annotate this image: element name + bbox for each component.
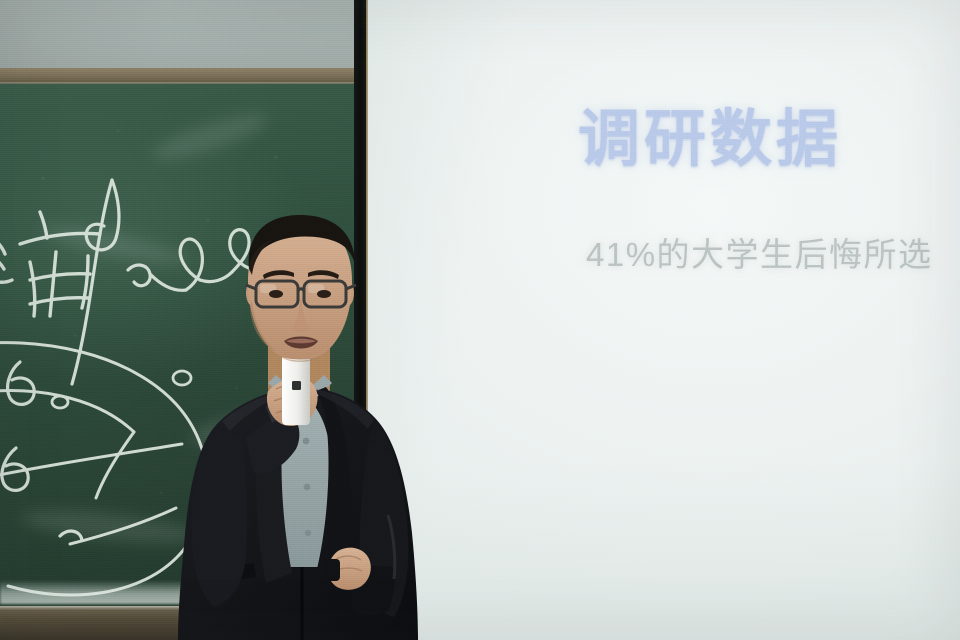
head <box>246 215 356 362</box>
microphone-switch <box>292 381 301 390</box>
presentation-clicker <box>322 559 340 581</box>
slide-title: 调研数据 <box>578 88 842 178</box>
wall-shading <box>0 0 368 72</box>
lecture-photo: 调研数据 41%的大学生后悔所选 <box>0 0 960 640</box>
slide-subtitle: 41%的大学生后悔所选 <box>586 228 933 276</box>
blackboard-top-frame <box>0 68 358 85</box>
presenter <box>150 215 480 640</box>
chalk-lower-loops <box>2 362 82 540</box>
chalk-character-man <box>0 212 100 316</box>
